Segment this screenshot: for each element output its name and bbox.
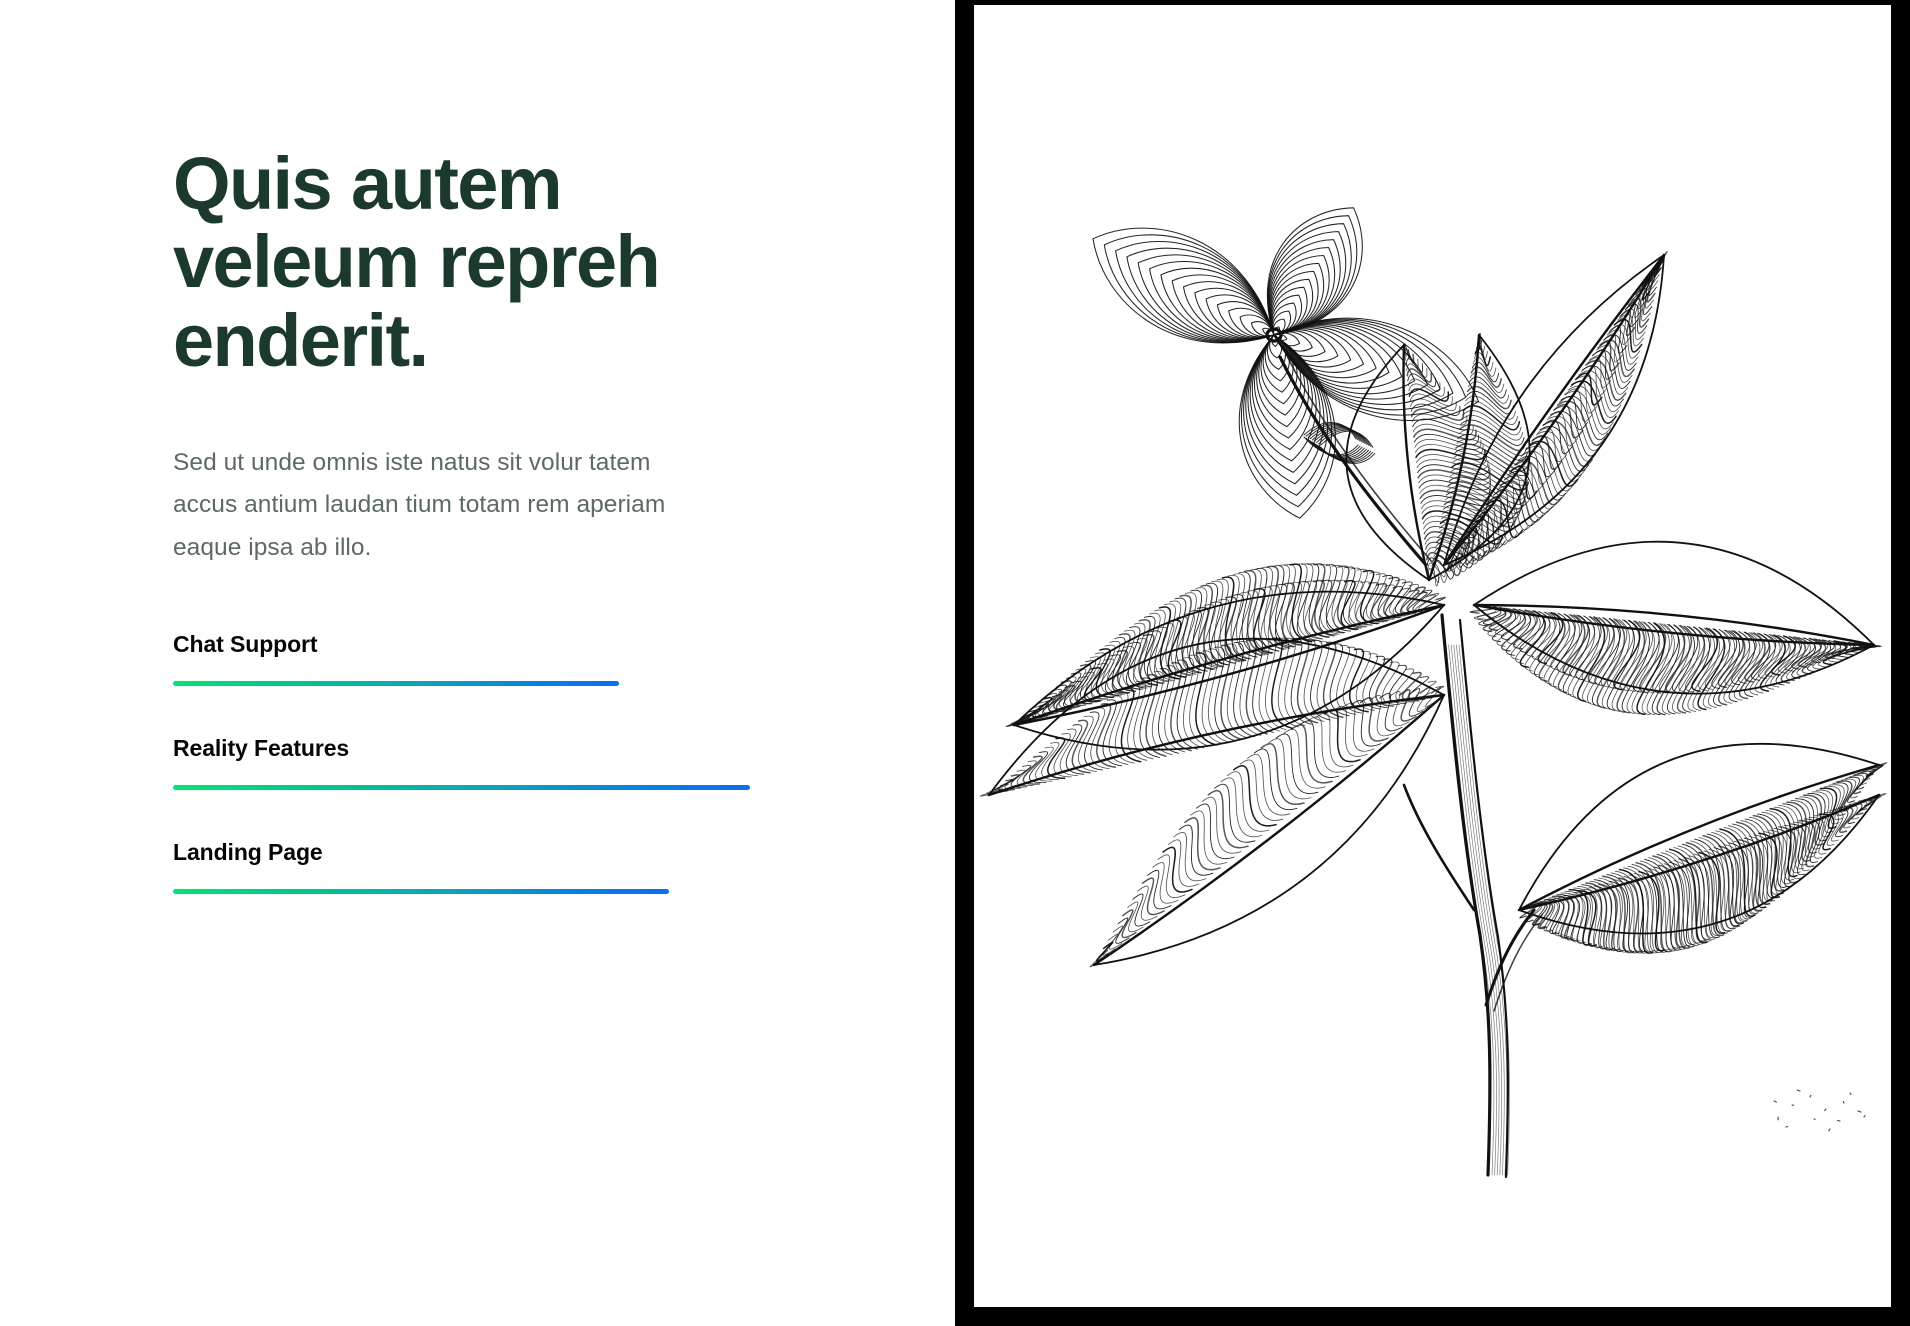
skill-item-chat-support: Chat Support	[173, 631, 793, 686]
skill-progress-track	[173, 681, 793, 686]
skill-label: Landing Page	[173, 839, 793, 866]
image-frame	[955, 0, 1910, 1326]
skill-progress-track	[173, 889, 793, 894]
hero-section: Quis autem veleum repreh enderit. Sed ut…	[0, 0, 1910, 1326]
skill-label: Reality Features	[173, 735, 793, 762]
skill-bar-list: Chat Support Reality Features Landing Pa…	[173, 631, 793, 894]
hero-paragraph: Sed ut unde omnis iste natus sit volur t…	[173, 442, 673, 568]
skill-progress-track	[173, 785, 793, 790]
skill-progress-fill	[173, 889, 669, 894]
skill-item-landing-page: Landing Page	[173, 839, 793, 894]
image-canvas	[974, 5, 1891, 1307]
skill-progress-fill	[173, 681, 619, 686]
skill-label: Chat Support	[173, 631, 793, 658]
hero-content: Quis autem veleum repreh enderit. Sed ut…	[173, 145, 793, 894]
skill-item-reality-features: Reality Features	[173, 735, 793, 790]
skill-progress-fill	[173, 785, 750, 790]
botanical-illustration	[974, 5, 1891, 1307]
hero-media-column	[955, 0, 1910, 1326]
page-title: Quis autem veleum repreh enderit.	[173, 145, 733, 380]
hero-text-column: Quis autem veleum repreh enderit. Sed ut…	[0, 0, 955, 1326]
